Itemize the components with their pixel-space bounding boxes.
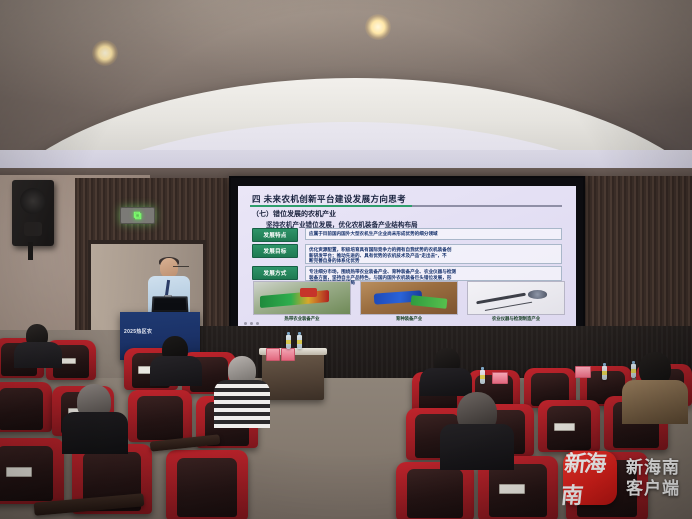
podium-banner-text: 2025热区农 [124, 328, 196, 335]
seat[interactable] [396, 462, 474, 519]
seat[interactable] [0, 382, 52, 432]
audience-shoulders [622, 380, 688, 424]
presenter-laptop [152, 296, 189, 313]
watermark-line-2: 客户端 [626, 479, 680, 498]
audience-shoulders [62, 412, 128, 454]
seat[interactable] [538, 400, 600, 452]
slide-subtitle: （七）错位发展的农机产业 [252, 209, 336, 219]
slide-row-3: 发展方式 专注细分市场，围绕热带农业装备产业、育种装备产业、农业仪器与检测 装备… [252, 266, 562, 281]
wood-slat-wall-right [578, 176, 692, 336]
slide-row-line: 断完善自身的体系化优势 [309, 258, 558, 264]
slide-row-line: 应属于目前国内国外大型农机生产企业尚未形成优势的细分领域 [309, 231, 558, 237]
slide-row-body: 应属于目前国内国外大型农机生产企业尚未形成优势的细分领域 [305, 228, 562, 240]
audience-shoulders [214, 380, 270, 428]
slide-picture-row [253, 281, 565, 315]
seat[interactable] [0, 438, 64, 504]
presenter-head [160, 258, 178, 278]
audience-shoulders [440, 424, 514, 470]
watermark-logo-icon: 新海南 [563, 451, 617, 505]
name-card [575, 366, 591, 378]
name-card [492, 372, 508, 384]
water-bottle [602, 366, 607, 380]
presentation-slide: 四 未来农机创新平台建设发展方向思考 （七）错位发展的农机产业 坚持农机产业错位… [238, 186, 576, 328]
slide-row-tag: 发展方式 [252, 266, 298, 280]
speaker-mount [28, 242, 33, 260]
slide-row-text-highlight: 热带农业装备产业、育种装备产业、农业仪器与检测 [350, 269, 456, 274]
watermark-logo-text: 新海南 [560, 446, 621, 510]
seat[interactable] [166, 450, 248, 519]
slide-row-body: 优化资源配置，积极培育具有国际竞争力的拥有自我优势的农机装备创 新研发平台；推动… [305, 244, 562, 264]
seat[interactable] [128, 390, 192, 442]
slide-row-1: 发展特点 应属于目前国内国外大型农机生产企业尚未形成优势的细分领域 [252, 228, 562, 242]
watermark-line-1: 新海南 [626, 458, 680, 477]
slide-title-rule [250, 205, 562, 207]
slide-picture-harvester [253, 281, 351, 315]
water-bottle [631, 364, 636, 378]
audience-shoulders [14, 342, 62, 368]
exit-icon: ⧉ [134, 210, 142, 221]
name-card [266, 348, 280, 361]
wall-speaker [12, 180, 54, 246]
seat-number-plate [499, 484, 525, 494]
slide-caption-row: 热带农业装备产业 育种装备产业 农业仪器与检测制造产业 [253, 316, 565, 325]
slide-row-tag: 发展目标 [252, 244, 298, 258]
slide-picture-instruments [467, 281, 565, 315]
seat-number-plate [554, 423, 575, 431]
seat-number-plate [6, 467, 31, 477]
watermark-text: 新海南 客户端 [626, 458, 680, 498]
glasses-icon [173, 266, 189, 271]
water-bottle [286, 335, 291, 349]
conference-hall-photo: ⧉ 四 未来农机创新平台建设发展方向思考 （七）错位发展的农机产业 坚持农机产业… [0, 0, 692, 519]
audience-shoulders [150, 356, 202, 386]
watermark: 新海南 新海南 客户端 [563, 451, 680, 505]
water-bottle [297, 335, 302, 349]
slide-status-dots [244, 322, 259, 325]
slide-title: 四 未来农机创新平台建设发展方向思考 [252, 193, 406, 205]
slide-row-text: 专注细分市场，围绕 [309, 269, 350, 274]
slide-picture-seeder [360, 281, 458, 315]
ceiling-spotlight [92, 40, 118, 66]
slide-picture-caption: 农业仪器与检测制造产业 [467, 316, 565, 325]
slide-row-tag: 发展特点 [252, 228, 298, 242]
water-bottle [480, 370, 485, 384]
exit-sign: ⧉ [120, 207, 155, 224]
slide-row-body: 专注细分市场，围绕热带农业装备产业、育种装备产业、农业仪器与检测 装备方面，坚持… [305, 266, 562, 281]
ceiling-spotlight [365, 14, 391, 40]
slide-row-2: 发展目标 优化资源配置，积极培育具有国际竞争力的拥有自我优势的农机装备创 新研发… [252, 244, 562, 264]
audience-shoulders [420, 368, 472, 396]
slide-picture-caption: 育种装备产业 [360, 316, 458, 325]
name-card [281, 348, 295, 361]
slide-picture-caption: 热带农业装备产业 [253, 316, 351, 325]
projection-screen: 四 未来农机创新平台建设发展方向思考 （七）错位发展的农机产业 坚持农机产业错位… [229, 176, 585, 337]
